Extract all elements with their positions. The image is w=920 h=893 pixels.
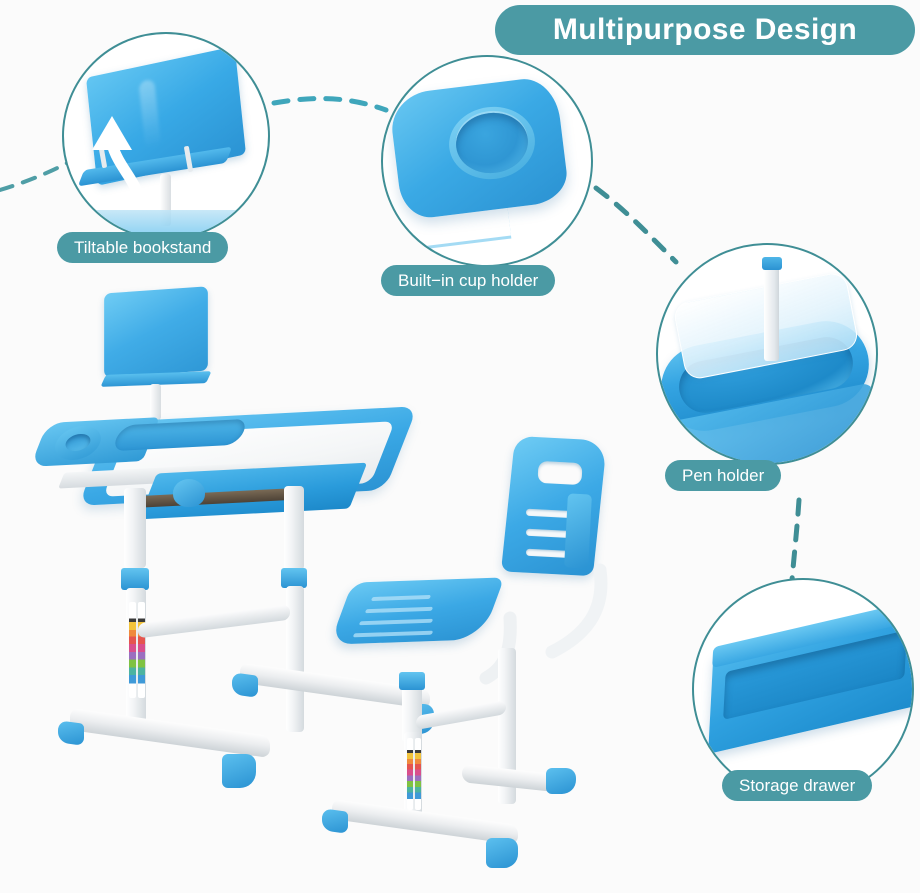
chair-height-scale-sticker-1 bbox=[407, 738, 413, 810]
callout-pen-holder bbox=[656, 243, 878, 465]
chair-foot-cap-right-back bbox=[546, 768, 576, 794]
desk-foot-cap-right-front bbox=[232, 672, 258, 698]
feature-label-text: Pen holder bbox=[682, 466, 764, 486]
desk-bookstand bbox=[104, 286, 208, 377]
chair-foot-cap-left-front bbox=[322, 808, 348, 834]
feature-label-pen-holder[interactable]: Pen holder bbox=[665, 460, 781, 491]
desk-bookstand-post bbox=[150, 384, 161, 420]
desk-height-scale-sticker-left-2 bbox=[138, 602, 145, 698]
desk-cross-bar bbox=[138, 605, 290, 639]
desk-height-scale-sticker-left bbox=[129, 602, 136, 698]
feature-label-text: Tiltable bookstand bbox=[74, 238, 211, 258]
infographic-canvas: Multipurpose Design Ti bbox=[0, 0, 920, 893]
desk-foot-cap-left-back bbox=[222, 754, 256, 788]
pen-holder-post-cap-icon bbox=[762, 257, 782, 270]
link-penholder-to-drawer bbox=[792, 500, 799, 580]
link-cupholder-to-penholder bbox=[596, 188, 676, 262]
feature-label-text: Storage drawer bbox=[739, 776, 855, 796]
feature-label-tiltable-bookstand[interactable]: Tiltable bookstand bbox=[57, 232, 228, 263]
desk-leg-right-collar bbox=[281, 568, 307, 588]
desk-foot-cap-left-front bbox=[58, 720, 84, 746]
chair-cross-bar bbox=[416, 700, 506, 730]
feature-label-storage-drawer[interactable]: Storage drawer bbox=[722, 770, 872, 801]
product-chair bbox=[320, 420, 640, 870]
chair-height-scale-sticker-2 bbox=[415, 738, 421, 810]
tilt-arrow-icon bbox=[82, 92, 190, 210]
link-bookstand-to-cupholder bbox=[274, 99, 386, 110]
page-title: Multipurpose Design bbox=[553, 13, 857, 47]
desk-foot-left bbox=[70, 708, 270, 758]
chair-back-handle-cutout bbox=[537, 461, 582, 485]
callout-storage-drawer bbox=[692, 578, 914, 800]
page-title-banner: Multipurpose Design bbox=[495, 5, 915, 55]
desk-leg-right-upper bbox=[284, 486, 304, 570]
chair-foot-cap-left-back bbox=[486, 838, 518, 868]
chair-leg-front-collar bbox=[399, 672, 425, 690]
desk-leg-left-upper bbox=[124, 488, 146, 568]
chair-back-bracket bbox=[564, 493, 592, 568]
pen-holder-post-icon bbox=[764, 265, 779, 361]
desk-tilt-knob[interactable] bbox=[173, 479, 205, 507]
callout-built-in-cup-holder bbox=[381, 55, 593, 267]
desk-leg-left-collar bbox=[121, 568, 149, 590]
callout-tiltable-bookstand bbox=[62, 32, 270, 240]
